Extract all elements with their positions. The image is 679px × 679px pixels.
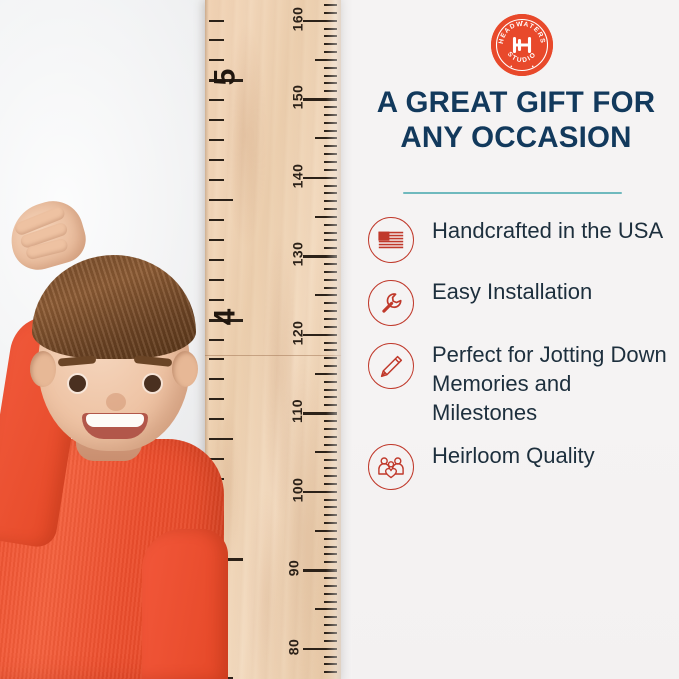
feature-item-heirloom: Heirloom Quality	[352, 441, 679, 490]
boy-mouth	[82, 413, 148, 439]
boy-eye-right	[144, 375, 161, 392]
family-heart-icon	[368, 444, 414, 490]
usa-flag-icon	[368, 217, 414, 263]
marketing-text-panel: HEADWATERS STUDIO A GREAT GIFT FOR ANY O…	[352, 0, 679, 679]
boy-ear-left	[30, 351, 56, 387]
feature-item-installation: Easy Installation	[352, 277, 679, 326]
feature-label: Heirloom Quality	[432, 441, 595, 470]
boy-eyebrow-right	[134, 355, 173, 367]
feature-list: Handcrafted in the USA Easy Installation	[352, 214, 679, 504]
ruler-cm-label: 90	[285, 560, 301, 577]
headwaters-studio-logo: HEADWATERS STUDIO	[491, 14, 553, 76]
product-lifestyle-image: 1601501401301201101009080 54	[0, 0, 679, 679]
boy-sleeve-right	[142, 529, 228, 679]
ruler-cm-label: 140	[289, 163, 305, 188]
feature-item-handcrafted: Handcrafted in the USA	[352, 214, 679, 263]
boy-hair	[32, 255, 196, 359]
boy-head	[38, 265, 190, 451]
ruler-cm-label: 110	[289, 399, 305, 423]
boy-figure	[0, 209, 224, 679]
ruler-cm-label: 120	[289, 320, 305, 345]
feature-label: Perfect for Jotting Down Memories and Mi…	[432, 340, 667, 427]
page-title: A GREAT GIFT FOR ANY OCCASION	[358, 86, 674, 156]
ruler-panel-seam	[205, 355, 341, 356]
ruler-cm-label: 130	[289, 242, 305, 267]
product-photo-scene: 1601501401301201101009080 54	[0, 0, 352, 679]
ruler-foot-label: 5	[208, 69, 242, 86]
headline-line-2: ANY OCCASION	[358, 121, 674, 156]
boy-eye-left	[69, 375, 86, 392]
photo-right-fade	[326, 0, 352, 679]
feature-item-jotting: Perfect for Jotting Down Memories and Mi…	[352, 340, 679, 427]
boy-nose	[106, 393, 126, 411]
ruler-cm-label: 150	[289, 85, 305, 110]
feature-label: Handcrafted in the USA	[432, 216, 663, 245]
title-divider	[403, 192, 622, 194]
ruler-cm-label: 100	[289, 477, 305, 502]
ruler-cm-label: 80	[285, 638, 301, 655]
boy-eyebrow-left	[58, 355, 97, 366]
wrench-icon	[368, 280, 414, 326]
pencil-icon	[368, 343, 414, 389]
ruler-cm-label: 160	[289, 6, 305, 31]
boy-ear-right	[172, 351, 198, 387]
headline-line-1: A GREAT GIFT FOR	[358, 86, 674, 121]
feature-label: Easy Installation	[432, 277, 592, 306]
